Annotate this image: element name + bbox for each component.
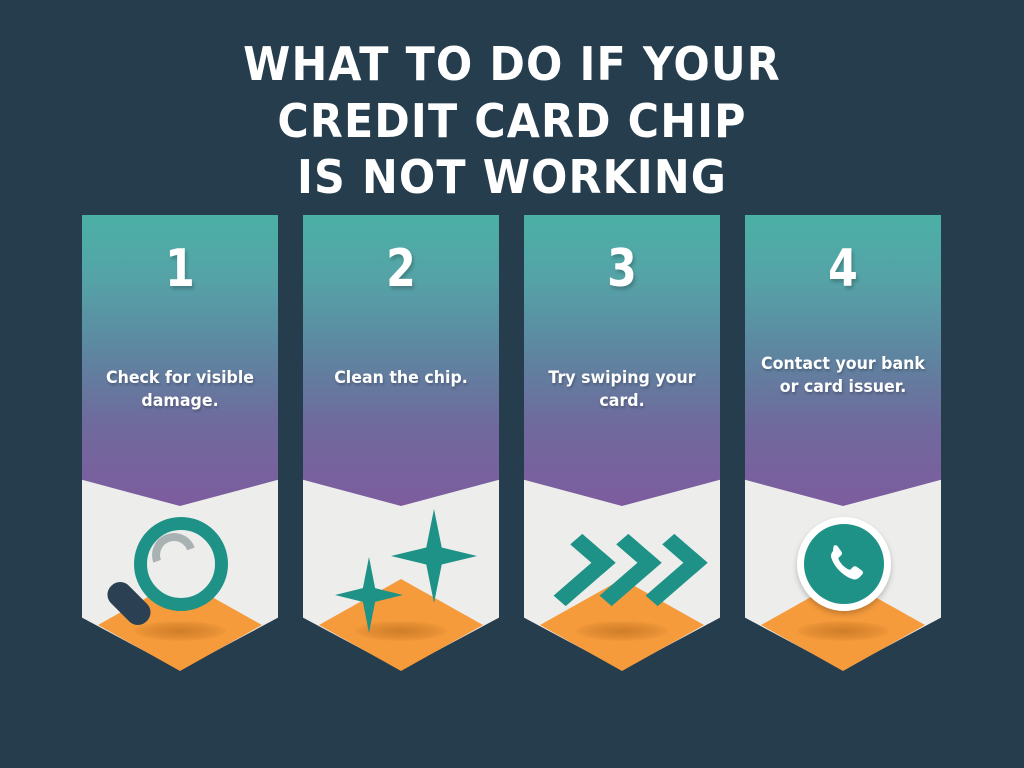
step-number: 1 <box>100 243 261 295</box>
step-label: Check for visible damage. <box>96 367 263 414</box>
step-label: Clean the chip. <box>317 367 484 390</box>
step-number: 3 <box>542 243 703 295</box>
title-line-2: CREDIT CARD CHIP <box>36 93 988 150</box>
step-label: Try swiping your card. <box>538 367 705 414</box>
sparkle-small <box>335 557 403 633</box>
sparkles-icon <box>303 495 499 645</box>
phone-icon-circle <box>797 517 891 611</box>
card-header-panel: 4 Contact your bank or card issuer. <box>745 215 941 506</box>
step-card-4: 4 Contact your bank or card issuer. <box>745 215 941 685</box>
phone-handset-icon <box>819 539 869 589</box>
step-card-2: 2 Clean the chip. <box>303 215 499 685</box>
chevrons-right-icon <box>524 495 720 645</box>
card-header-panel: 1 Check for visible damage. <box>82 215 278 506</box>
card-header-panel: 2 Clean the chip. <box>303 215 499 506</box>
step-label: Contact your bank or card issuer. <box>759 353 926 400</box>
phone-call-icon <box>745 495 941 645</box>
steps-rail: 1 Check for visible damage. 2 Clean the … <box>82 215 942 685</box>
magnifying-glass-icon <box>82 495 278 645</box>
step-card-1: 1 Check for visible damage. <box>82 215 278 685</box>
sparkle-large <box>391 509 477 603</box>
page-title: WHAT TO DO IF YOUR CREDIT CARD CHIP IS N… <box>36 36 988 206</box>
title-line-3: IS NOT WORKING <box>36 149 988 206</box>
title-line-1: WHAT TO DO IF YOUR <box>36 36 988 93</box>
step-number: 2 <box>321 243 482 295</box>
step-card-3: 3 Try swiping your card. <box>524 215 720 685</box>
card-header-panel: 3 Try swiping your card. <box>524 215 720 506</box>
step-number: 4 <box>763 243 924 295</box>
